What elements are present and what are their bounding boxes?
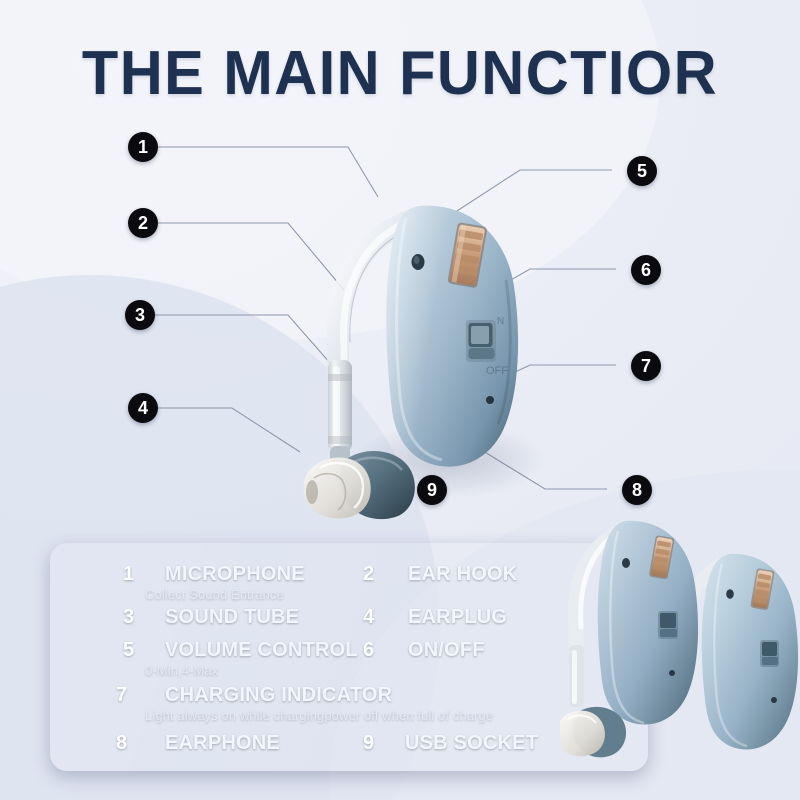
legend-item-7[interactable]: 7 CHARGING INDICATOR: [116, 684, 392, 706]
legend-number-7: 7: [116, 684, 136, 706]
legend-item-8[interactable]: 8 EARPHONE: [116, 732, 280, 754]
callout-badge-8[interactable]: 8: [622, 475, 652, 505]
legend-number-3: 3: [123, 606, 143, 628]
legend-sub-5: 0-Min,4-Max: [145, 663, 218, 678]
legend-number-6: 6: [363, 639, 383, 661]
poster-canvas: THE MAIN FUNCTIOR: [0, 0, 800, 800]
legend-sub-1: Collect Sound Entrance: [145, 587, 284, 602]
legend-number-2: 2: [363, 563, 383, 585]
legend-number-1: 1: [123, 563, 143, 585]
legend-label-6: ON/OFF: [408, 639, 485, 661]
legend-item-3[interactable]: 3 SOUND TUBE: [123, 606, 299, 628]
legend-item-2[interactable]: 2 EAR HOOK: [363, 563, 517, 585]
legend-number-4: 4: [363, 606, 383, 628]
legend-item-6[interactable]: 6 ON/OFF: [363, 639, 485, 661]
callout-badge-5[interactable]: 5: [627, 156, 657, 186]
legend-label-3: SOUND TUBE: [165, 606, 299, 628]
legend-sub-7: Light always on while chargingpower off …: [145, 708, 493, 723]
legend-list: 1 MICROPHONE Collect Sound Entrance 2 EA…: [50, 543, 648, 771]
hearing-aid-small-front: [560, 505, 710, 795]
legend-item-5[interactable]: 5 VOLUME CONTROL: [123, 639, 358, 661]
callout-badge-3[interactable]: 3: [125, 300, 155, 330]
svg-text:N: N: [497, 316, 504, 327]
legend-label-5: VOLUME CONTROL: [165, 639, 358, 661]
callout-badge-4[interactable]: 4: [128, 393, 158, 423]
legend-label-7: CHARGING INDICATOR: [165, 684, 392, 706]
callout-badge-6[interactable]: 6: [631, 255, 661, 285]
callout-badge-1[interactable]: 1: [128, 132, 158, 162]
callout-badge-7[interactable]: 7: [631, 351, 661, 381]
legend-item-4[interactable]: 4 EARPLUG: [363, 606, 507, 628]
callout-badge-2[interactable]: 2: [128, 208, 158, 238]
legend-label-8: EARPHONE: [165, 732, 280, 754]
hearing-aid-main: N OFF: [300, 160, 560, 520]
legend-label-9: USB SOCKET: [405, 732, 538, 754]
legend-number-5: 5: [123, 639, 143, 661]
legend-item-1[interactable]: 1 MICROPHONE: [123, 563, 305, 585]
legend-panel: 1 MICROPHONE Collect Sound Entrance 2 EA…: [50, 543, 648, 771]
legend-label-1: MICROPHONE: [165, 563, 305, 585]
legend-number-8: 8: [116, 732, 136, 754]
legend-label-2: EAR HOOK: [408, 563, 517, 585]
callout-badge-9[interactable]: 9: [417, 475, 447, 505]
legend-number-9: 9: [363, 732, 383, 754]
legend-label-4: EARPLUG: [408, 606, 507, 628]
legend-item-9[interactable]: 9 USB SOCKET: [363, 732, 538, 754]
svg-text:OFF: OFF: [486, 365, 508, 377]
